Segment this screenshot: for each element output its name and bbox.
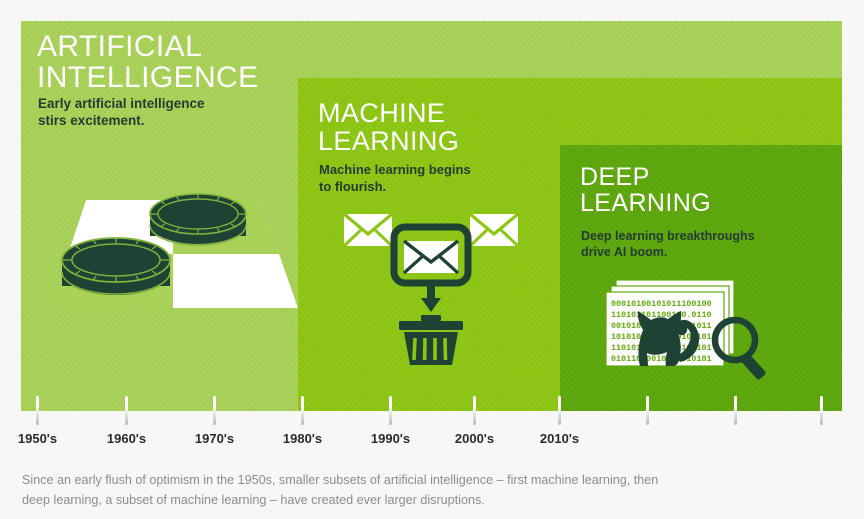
timeline-tick-label: 1950's — [18, 431, 57, 446]
envelope-icon-right — [470, 214, 518, 246]
trash-can-icon — [399, 315, 463, 365]
timeline-tick — [734, 396, 737, 425]
panel-heading-ai: ARTIFICIAL INTELLIGENCE — [37, 31, 259, 93]
panel-subtitle-ml: Machine learning begins to flourish. — [319, 162, 471, 195]
filtered-envelope-box — [394, 227, 468, 283]
checker-stack-back — [150, 194, 246, 245]
timeline-tick — [301, 396, 304, 425]
panel-heading-ml: MACHINE LEARNING — [318, 99, 459, 155]
timeline-tick — [558, 396, 561, 425]
timeline-tick-label: 1980's — [283, 431, 322, 446]
infographic-canvas: ARTIFICIAL INTELLIGENCE Early artificial… — [0, 0, 864, 519]
timeline-tick — [125, 396, 128, 425]
timeline-tick-label: 1970's — [195, 431, 234, 446]
svg-text:01011010010101010101: 01011010010101010101 — [611, 354, 712, 364]
timeline-tick-label: 1990's — [371, 431, 410, 446]
timeline-tick — [473, 396, 476, 425]
timeline-tick-label: 2010's — [540, 431, 579, 446]
timeline-tick — [389, 396, 392, 425]
timeline-tick — [646, 396, 649, 425]
timeline-axis: 1950's1960's1970's1980's1990's2000's2010… — [0, 396, 864, 456]
timeline-tick — [820, 396, 823, 425]
timeline-tick — [36, 396, 39, 425]
panel-subtitle-ai: Early artificial intelligence stirs exci… — [38, 95, 205, 130]
cat-image-recognition-icon: 00010100101011100100 110101101100110.011… — [604, 278, 784, 383]
timeline-tick-label: 1960's — [107, 431, 146, 446]
magnifier-handle — [740, 353, 766, 380]
caption-text: Since an early flush of optimism in the … — [22, 470, 812, 511]
panel-heading-dl: DEEP LEARNING — [580, 164, 711, 216]
panel-subtitle-dl: Deep learning breakthroughs drive AI boo… — [581, 228, 755, 260]
svg-text:00010100101011100100: 00010100101011100100 — [611, 299, 712, 309]
checker-piece-front — [62, 238, 170, 295]
timeline-tick-label: 2000's — [455, 431, 494, 446]
timeline-tick — [213, 396, 216, 425]
envelope-icon-left — [344, 214, 392, 246]
checkers-board-icon — [48, 160, 298, 320]
spam-filter-icon — [336, 205, 526, 365]
